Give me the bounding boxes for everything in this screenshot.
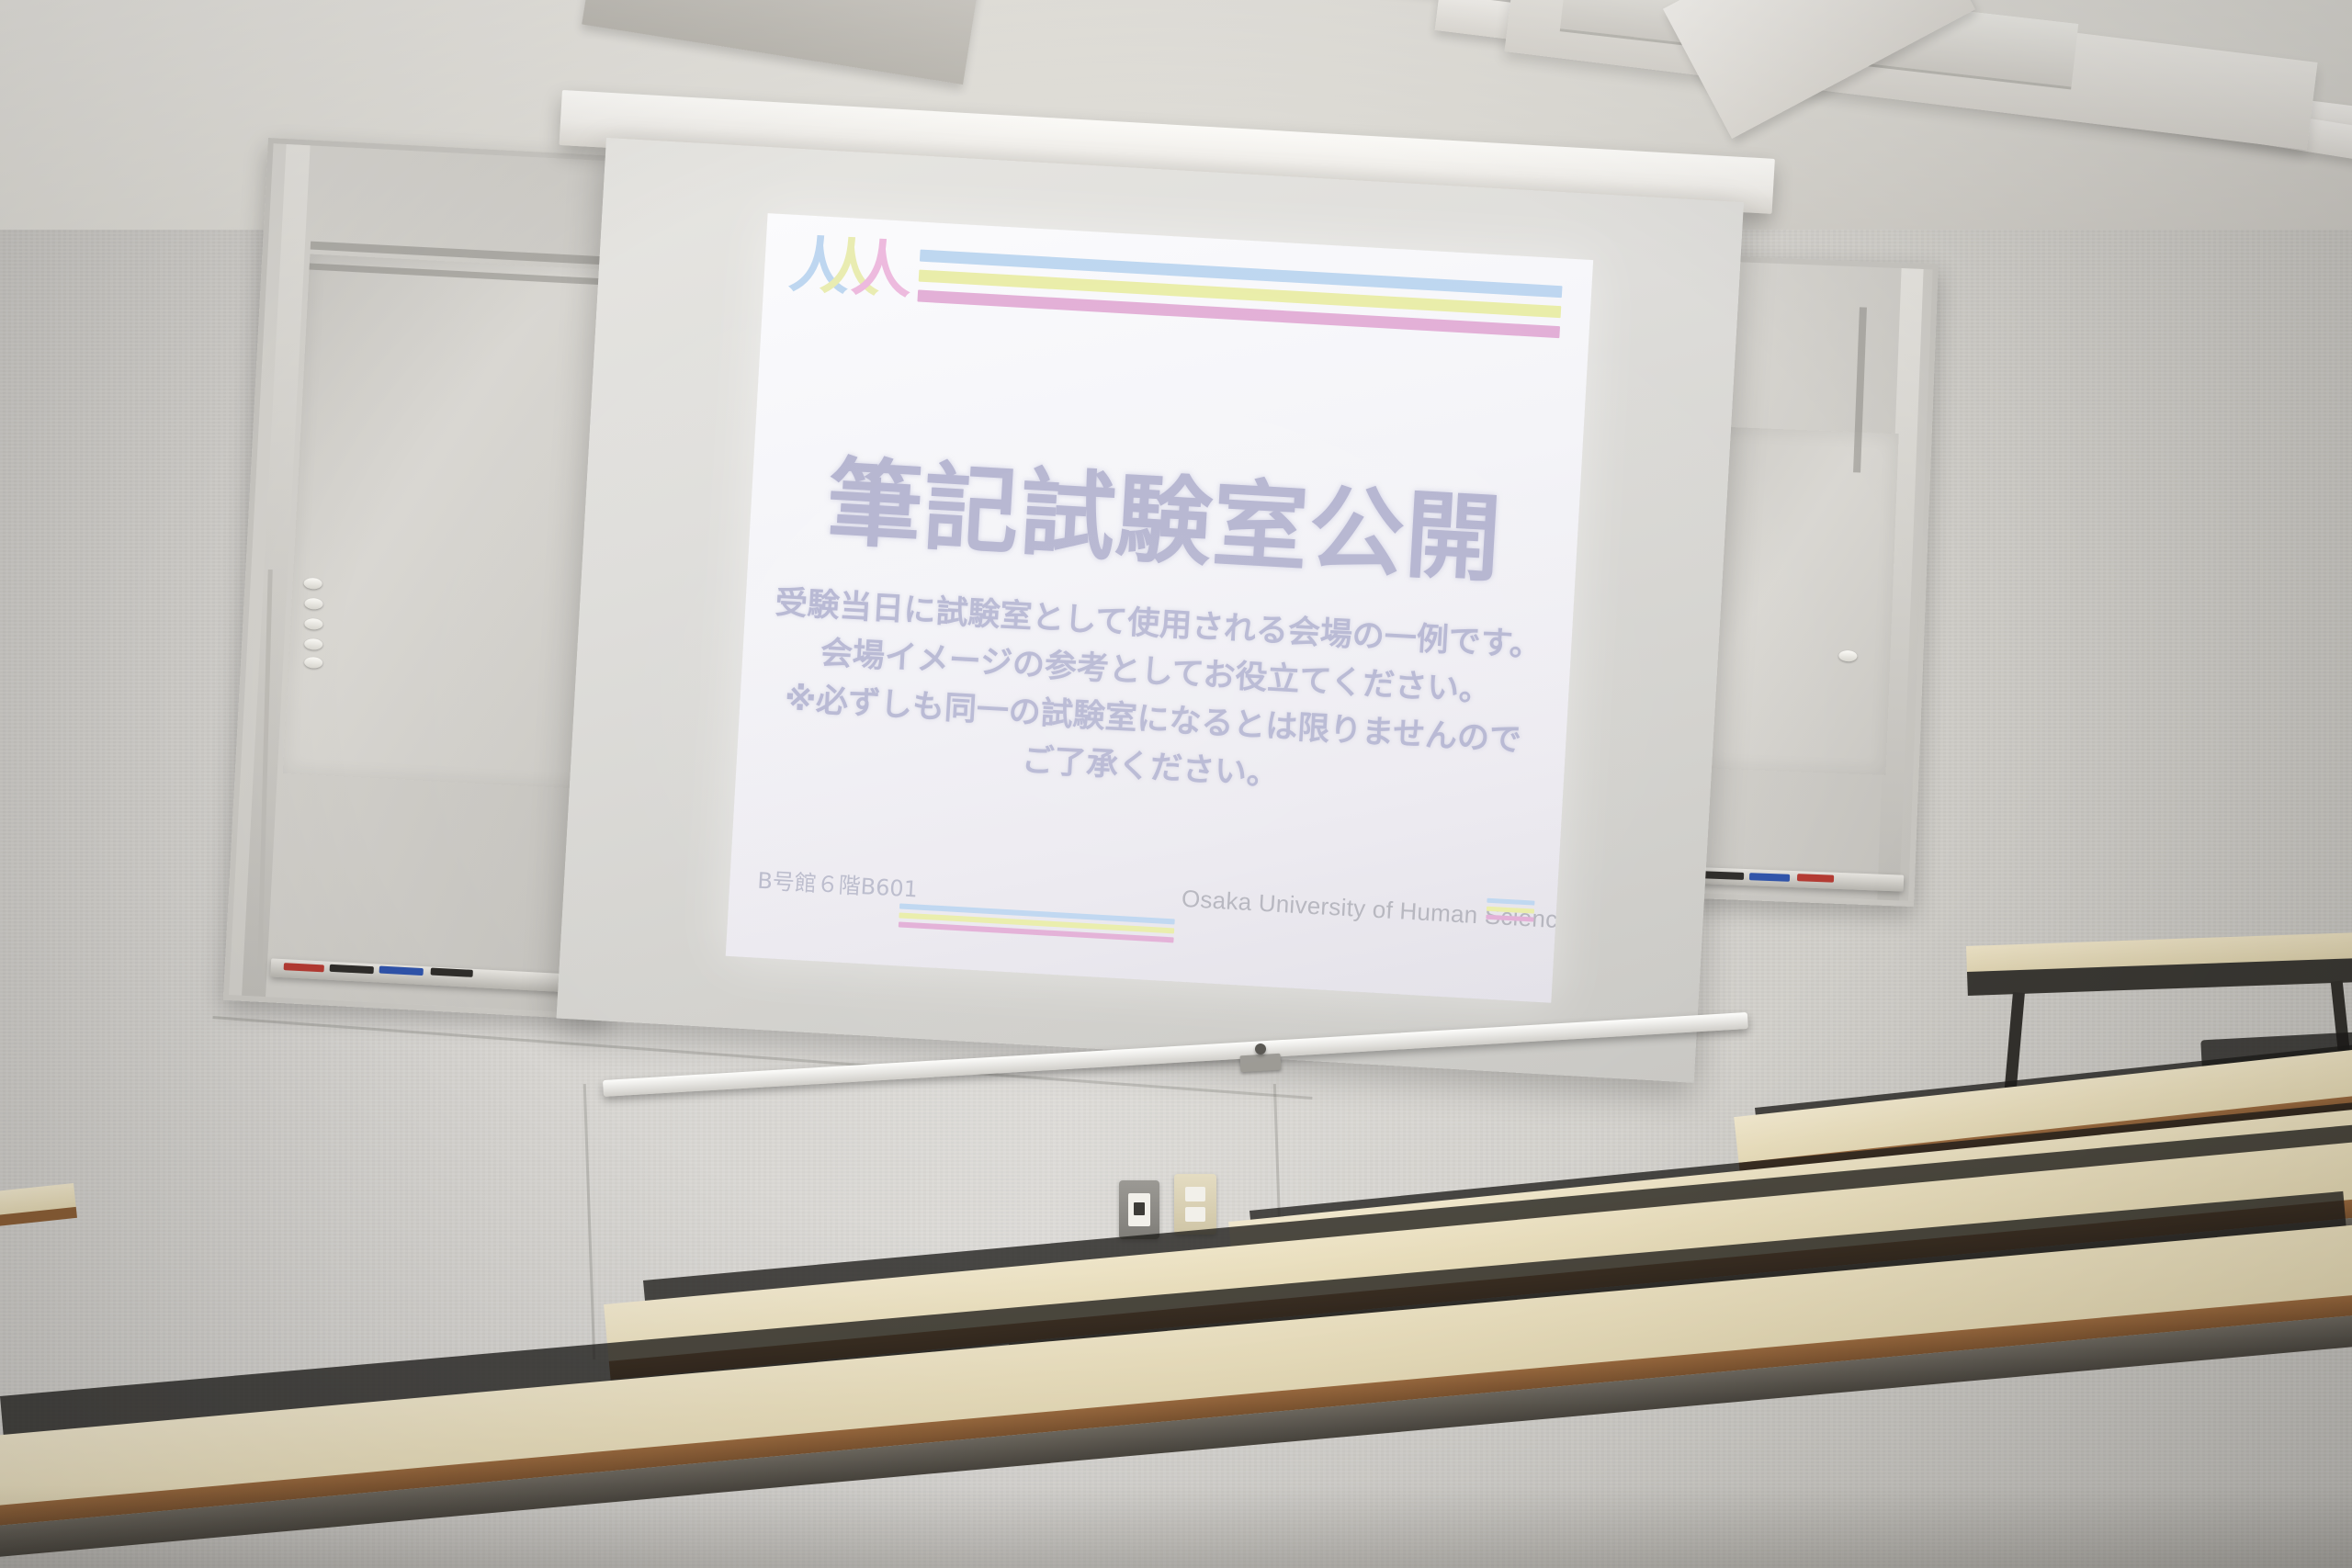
university-logo: 人 人 人: [786, 235, 910, 311]
chair-back-right-dark[interactable]: [2230, 953, 2295, 1045]
screen-pull-handle-hook[interactable]: [1255, 1043, 1266, 1055]
slide-footer-room: B号館６階B601: [757, 863, 919, 904]
floor-shadow-band: [0, 1485, 2352, 1568]
wall-jack-plate[interactable]: [1119, 1180, 1159, 1239]
ceiling-beam-dark-left: [582, 0, 980, 85]
marker-right-red: [1797, 874, 1834, 883]
outlet-socket-top: [1185, 1187, 1205, 1201]
screen-pull-handle[interactable]: [1240, 1054, 1282, 1073]
marker-right-black: [1703, 871, 1744, 880]
logo-glyph-3: 人: [849, 238, 913, 302]
lecture-room-screenshot: 人 人 人 筆記試験室公開 受験当日に試験室として使用される会場の一例です。 会…: [0, 0, 2352, 1568]
jack-pin: [1134, 1202, 1145, 1215]
outlet-socket-bottom: [1185, 1207, 1205, 1222]
projected-slide: 人 人 人 筆記試験室公開 受験当日に試験室として使用される会場の一例です。 会…: [726, 213, 1593, 1003]
slide-title: 筆記試験室公開: [748, 420, 1581, 605]
marker-right-blue: [1749, 873, 1790, 882]
projection-screen-surface: 人 人 人 筆記試験室公開 受験当日に試験室として使用される会場の一例です。 会…: [557, 138, 1744, 1083]
board-right-surface: [1702, 426, 1899, 774]
